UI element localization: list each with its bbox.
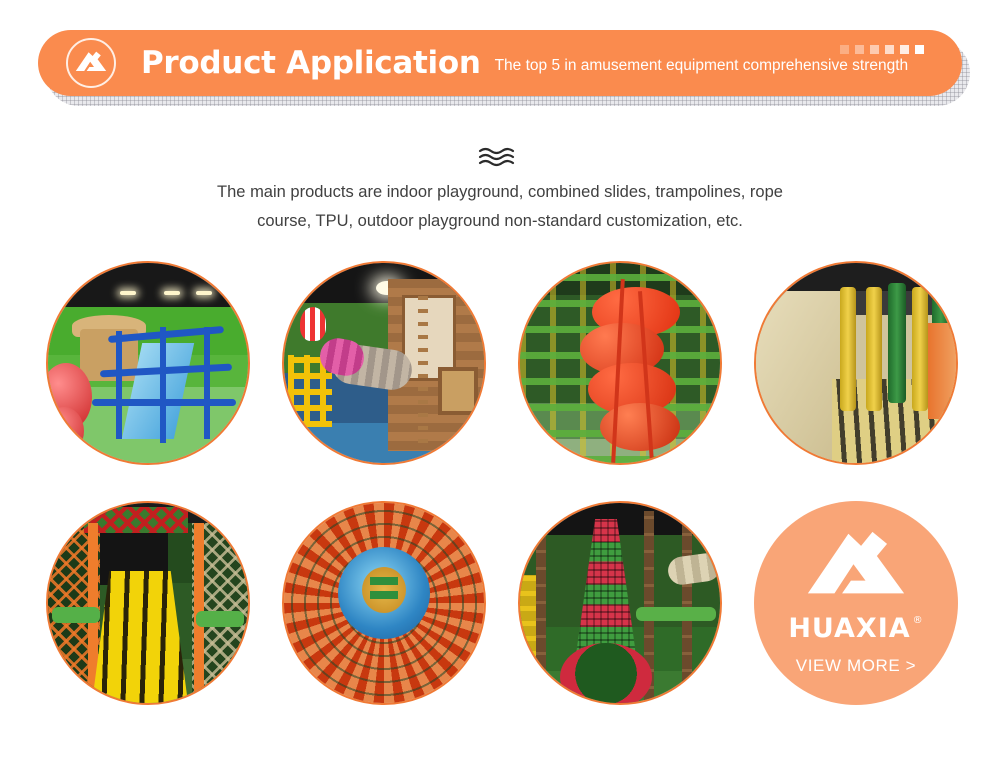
brand-text: HUAXIA bbox=[788, 615, 910, 642]
registered-mark: ® bbox=[913, 616, 924, 626]
product-application-gallery: HUAXIA ® VIEW MORE > bbox=[46, 261, 958, 705]
view-more-label: VIEW MORE > bbox=[796, 656, 916, 676]
brand-name: HUAXIA ® bbox=[788, 615, 923, 642]
intro-paragraph: The main products are indoor playground,… bbox=[180, 178, 820, 236]
gallery-row: HUAXIA ® VIEW MORE > bbox=[46, 501, 958, 705]
yellow-tiger-stripe-wave-slide[interactable] bbox=[46, 501, 250, 705]
wooden-pirate-play-structure[interactable] bbox=[282, 261, 486, 465]
banner-dot-decoration bbox=[840, 45, 924, 54]
banner: Product Application The top 5 in amuseme… bbox=[38, 30, 962, 96]
view-more-button[interactable]: HUAXIA ® VIEW MORE > bbox=[754, 501, 958, 705]
intro-line-2: course, TPU, outdoor playground non-stan… bbox=[180, 207, 820, 236]
red-spiral-tube-slide[interactable] bbox=[518, 261, 722, 465]
yellow-green-soft-play-columns[interactable] bbox=[754, 261, 958, 465]
red-green-mesh-tube[interactable] bbox=[518, 501, 722, 705]
huaxia-mountain-logo-icon bbox=[66, 38, 116, 88]
page-header-banner: Product Application The top 5 in amuseme… bbox=[38, 30, 962, 98]
page-title: Product Application bbox=[141, 45, 481, 81]
huaxia-mountain-logo-icon bbox=[803, 530, 909, 611]
banner-subtitle: The top 5 in amusement equipment compreh… bbox=[495, 57, 909, 75]
gallery-row bbox=[46, 261, 958, 465]
triple-wave-divider-icon bbox=[0, 146, 1000, 172]
intro-line-1: The main products are indoor playground,… bbox=[180, 178, 820, 207]
orange-mesh-tunnel[interactable] bbox=[282, 501, 486, 705]
indoor-playground-blue-slide[interactable] bbox=[46, 261, 250, 465]
